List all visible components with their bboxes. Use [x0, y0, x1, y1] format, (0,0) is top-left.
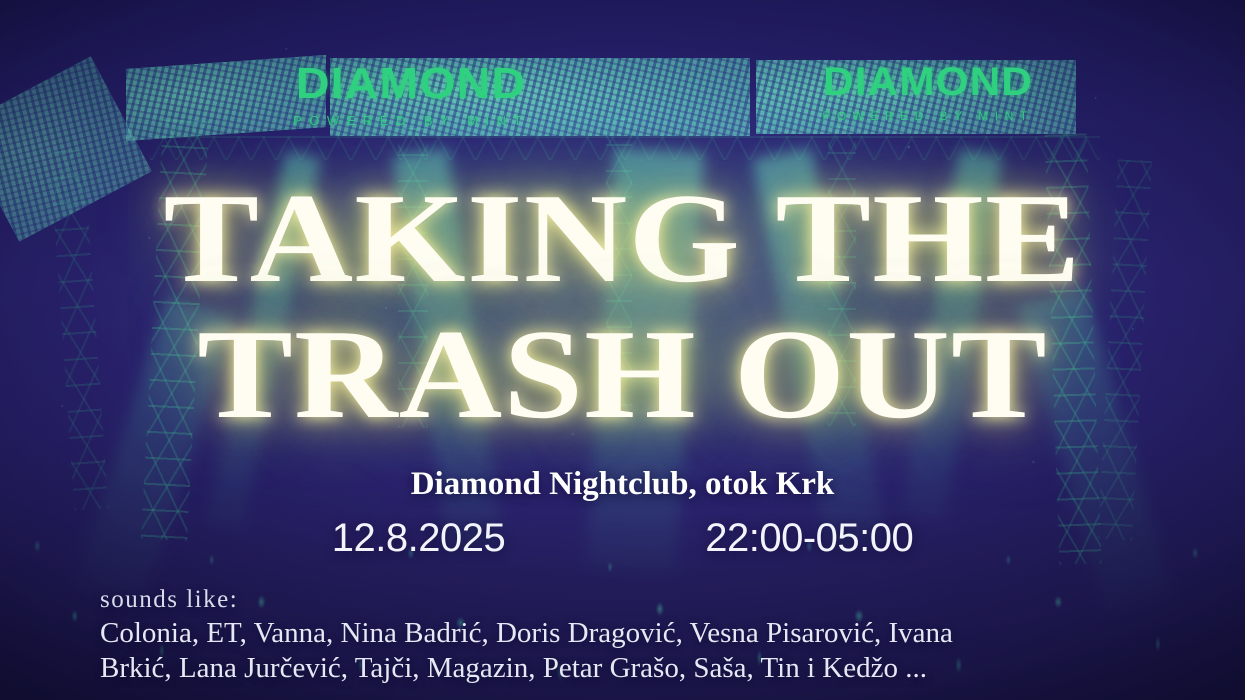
event-poster: DIAMOND POWERED BY MINT DIAMOND POWERED …: [0, 0, 1245, 700]
artist-list-line-2: Brkić, Lana Jurčević, Tajči, Magazin, Pe…: [100, 651, 1150, 686]
diamond-logo-right-wordmark: DIAMOND: [790, 62, 1066, 102]
date-time-row: 12.8.2025 22:00-05:00: [0, 516, 1245, 561]
diamond-logo-left-tagline: POWERED BY MINT: [266, 113, 556, 128]
headline-line-2: TRASH OUT: [0, 314, 1245, 436]
diamond-logo-left: DIAMOND POWERED BY MINT: [266, 62, 556, 128]
event-time: 22:00-05:00: [705, 516, 913, 561]
diamond-logo-left-wordmark: DIAMOND: [257, 62, 564, 106]
logo-band: DIAMOND POWERED BY MINT DIAMOND POWERED …: [126, 62, 1076, 134]
sounds-like-block: sounds like: Colonia, ET, Vanna, Nina Ba…: [100, 586, 1150, 687]
diamond-logo-right-tagline: POWERED BY MINT: [798, 109, 1058, 123]
event-headline: TAKING THE TRASH OUT: [0, 178, 1245, 435]
sounds-like-label: sounds like:: [100, 586, 1150, 614]
headline-line-1: TAKING THE: [0, 178, 1245, 300]
event-date: 12.8.2025: [332, 516, 505, 561]
artist-list-line-1: Colonia, ET, Vanna, Nina Badrić, Doris D…: [100, 616, 1150, 651]
venue-text: Diamond Nightclub, otok Krk: [0, 466, 1245, 503]
diamond-logo-right: DIAMOND POWERED BY MINT: [798, 62, 1058, 123]
